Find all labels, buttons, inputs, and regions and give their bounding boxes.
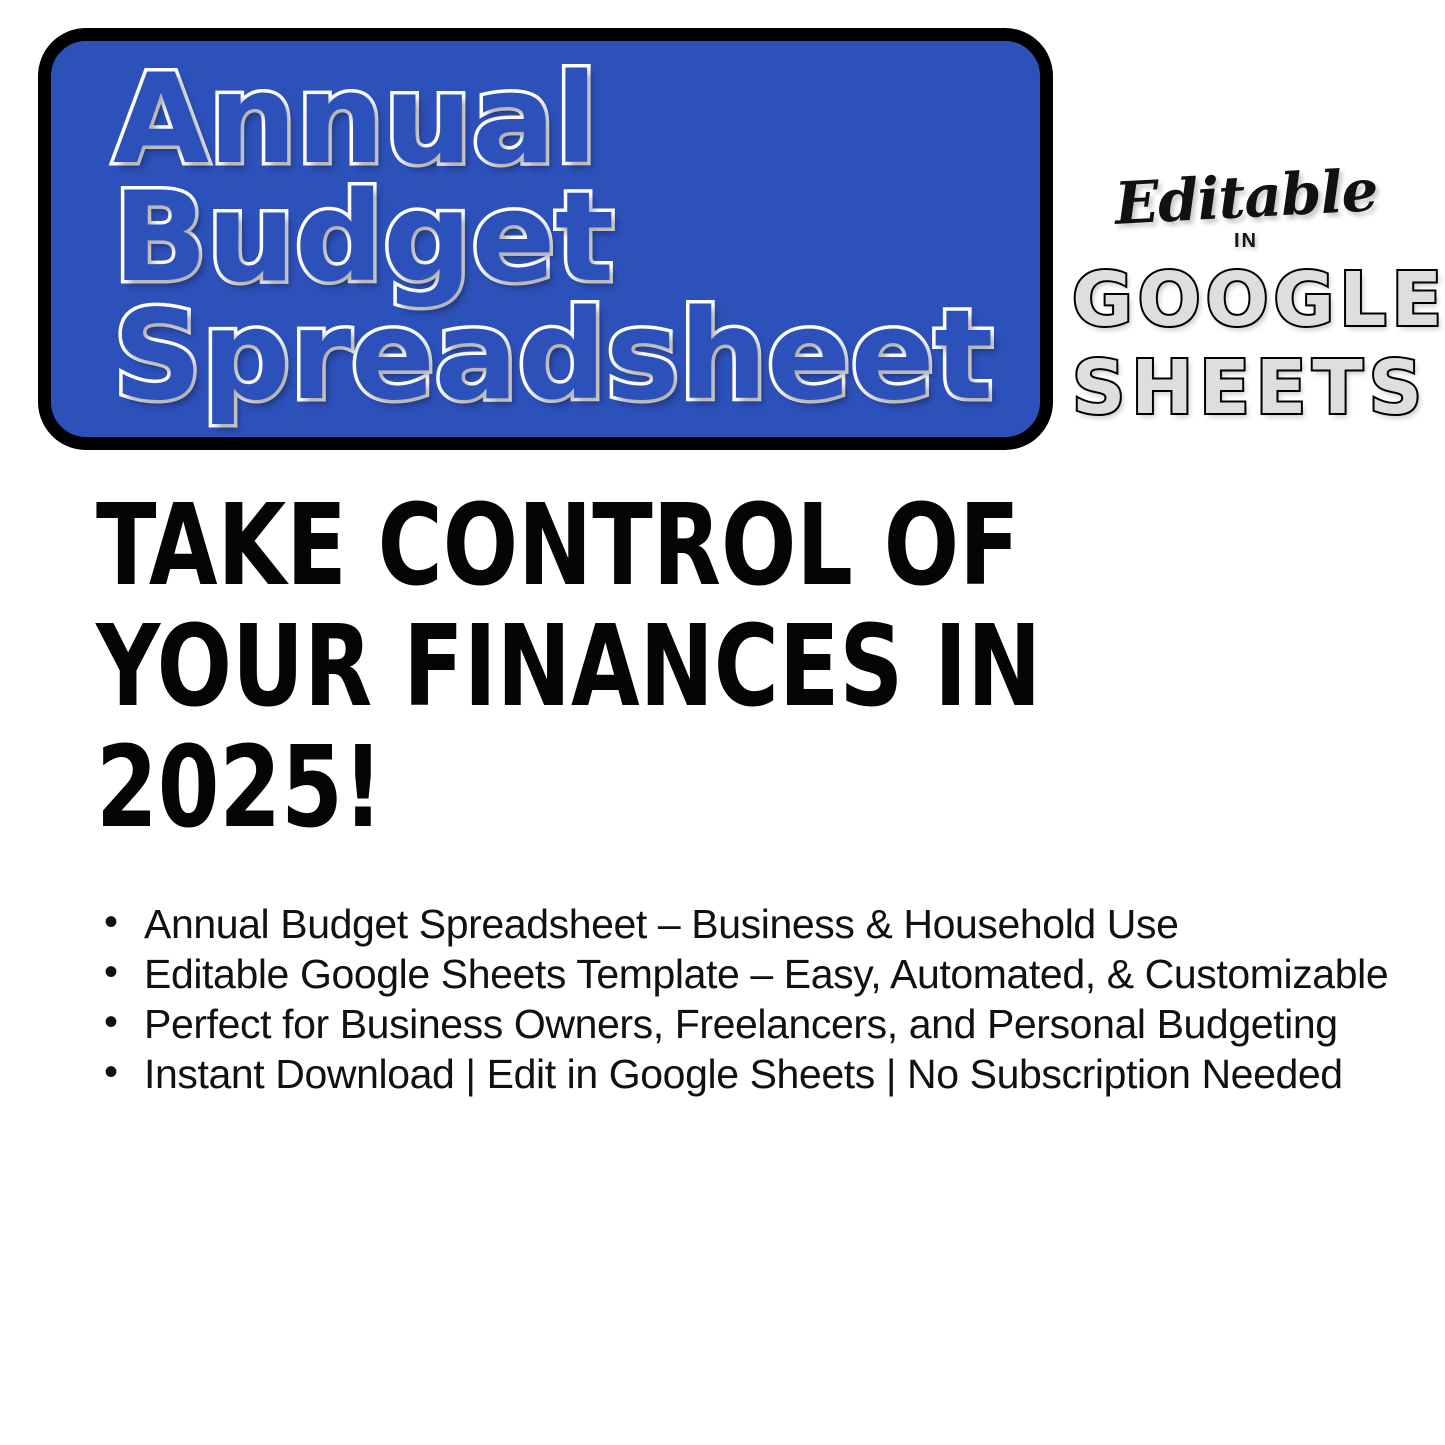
list-item: Editable Google Sheets Template – Easy, …	[96, 952, 1406, 998]
main-headline: TAKE CONTROL OF YOUR FINANCES IN 2025!	[96, 486, 1134, 849]
listing-graphic: Annual Budget Spreadsheet Editable IN GO…	[0, 0, 1445, 1445]
product-title-card: Annual Budget Spreadsheet	[38, 28, 1053, 450]
header-row: Annual Budget Spreadsheet Editable IN GO…	[0, 0, 1445, 470]
badge-platform-google: GOOGLE	[1072, 263, 1420, 337]
list-item: Annual Budget Spreadsheet – Business & H…	[96, 902, 1406, 948]
badge-editable-label: Editable	[1071, 159, 1422, 235]
product-title: Annual Budget Spreadsheet	[51, 62, 1040, 415]
badge-platform-sheets: SHEETS	[1072, 351, 1420, 425]
feature-list: Annual Budget Spreadsheet – Business & H…	[96, 902, 1406, 1102]
list-item: Instant Download | Edit in Google Sheets…	[96, 1052, 1406, 1098]
editable-in-google-sheets-badge: Editable IN GOOGLE SHEETS	[1072, 168, 1420, 425]
list-item: Perfect for Business Owners, Freelancers…	[96, 1002, 1406, 1048]
